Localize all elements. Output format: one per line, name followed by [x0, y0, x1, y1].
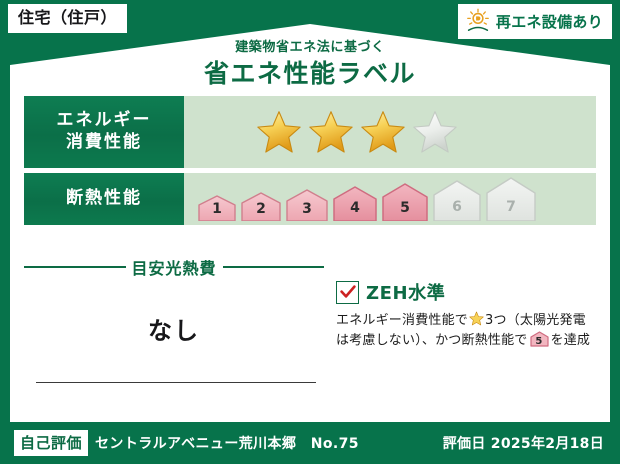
utility-cost-heading: 目安光熱費 — [24, 255, 324, 279]
renewable-equipment-badge: 再エネ設備あり — [458, 4, 612, 39]
grade-number-1: 1 — [197, 201, 237, 217]
label-title-block: 建築物省エネ法に基づく 省エネ性能ラベル — [0, 40, 620, 89]
performance-rows: エネルギー 消費性能 — [24, 96, 596, 225]
star-empty-icon — [412, 109, 458, 155]
energy-performance-label-cell: エネルギー 消費性能 — [24, 96, 184, 168]
grade-badge-1: 1 — [197, 195, 237, 221]
property-name: セントラルアベニュー荒川本郷 No.75 — [95, 433, 359, 453]
utility-cost-title: 目安光熱費 — [126, 255, 223, 279]
grade-badge-5: 5 — [381, 183, 429, 221]
zeh-description: エネルギー消費性能で3つ（太陽光発電は考慮しない）、かつ断熱性能で5を達成 — [336, 311, 596, 351]
star-filled-icon — [308, 109, 354, 155]
star-rating — [184, 109, 458, 155]
label-main-title: 省エネ性能ラベル — [0, 59, 620, 89]
utility-cost-underline — [36, 382, 316, 383]
star-filled-icon — [360, 109, 406, 155]
zeh-block: ZEH水準 エネルギー消費性能で3つ（太陽光発電は考慮しない）、かつ断熱性能で5… — [324, 255, 596, 405]
bottom-section: 目安光熱費 なし ZEH水準 エネルギー消費性能で3つ（太陽光発電は考慮しない）… — [24, 255, 596, 405]
utility-cost-block: 目安光熱費 なし — [24, 255, 324, 405]
insulation-label-line1: 断熱性能 — [66, 188, 142, 210]
grade-number-5: 5 — [381, 200, 429, 216]
grade-badge-7: 7 — [485, 177, 537, 221]
energy-performance-value-cell — [184, 96, 596, 168]
evaluation-date: 評価日 2025年2月18日 — [443, 433, 604, 453]
utility-cost-value: なし — [24, 311, 324, 346]
sun-solar-icon — [465, 8, 491, 34]
grade-number-2: 2 — [240, 201, 282, 217]
energy-performance-label: 住宅（住戸） 再エネ設備あり 建築物省エネ法に基づく — [0, 0, 620, 464]
evaluation-type-badge: 自己評価 — [14, 430, 88, 456]
building-type-label: 住宅（住戸） — [18, 8, 117, 27]
label-subtitle: 建築物省エネ法に基づく — [0, 40, 620, 56]
zeh-desc-part4: を達成 — [551, 333, 591, 348]
heading-rule-left — [24, 266, 126, 268]
zeh-desc-part3: は考慮しない）、かつ断熱性能で — [336, 333, 528, 348]
insulation-performance-label-cell: 断熱性能 — [24, 173, 184, 225]
grade-badge-3: 3 — [285, 189, 329, 221]
zeh-heading: ZEH水準 — [336, 279, 596, 305]
heading-rule-right — [223, 266, 325, 268]
renewable-equipment-label: 再エネ設備あり — [496, 11, 603, 32]
zeh-desc-part1: エネルギー消費性能で — [336, 313, 468, 328]
grade-number-7: 7 — [485, 199, 537, 215]
inline-grade-number: 5 — [530, 337, 549, 347]
check-icon — [340, 285, 356, 299]
grade-badge-6: 6 — [432, 180, 482, 221]
energy-performance-row: エネルギー 消費性能 — [24, 96, 596, 168]
grade-badge-2: 2 — [240, 192, 282, 221]
zeh-title: ZEH水準 — [366, 279, 445, 305]
label-footer: 自己評価 セントラルアベニュー荒川本郷 No.75 評価日 2025年2月18日 — [0, 422, 620, 464]
energy-label-line1: エネルギー — [57, 110, 152, 132]
insulation-performance-row: 断熱性能 1 — [24, 173, 596, 225]
star-filled-icon — [256, 109, 302, 155]
building-type-badge: 住宅（住戸） — [8, 4, 127, 33]
grade-number-4: 4 — [332, 200, 378, 216]
zeh-desc-part2: 3つ（太陽光発電 — [485, 313, 586, 328]
zeh-checkbox[interactable] — [336, 281, 359, 304]
grade-badge-4: 4 — [332, 186, 378, 221]
inline-star-icon — [469, 311, 484, 326]
grade-number-3: 3 — [285, 201, 329, 217]
insulation-grade-scale: 1 2 3 — [184, 177, 537, 221]
inline-grade-badge: 5 — [530, 331, 549, 347]
energy-label-line2: 消費性能 — [66, 132, 142, 154]
insulation-performance-value-cell: 1 2 3 — [184, 173, 596, 225]
grade-number-6: 6 — [432, 199, 482, 215]
